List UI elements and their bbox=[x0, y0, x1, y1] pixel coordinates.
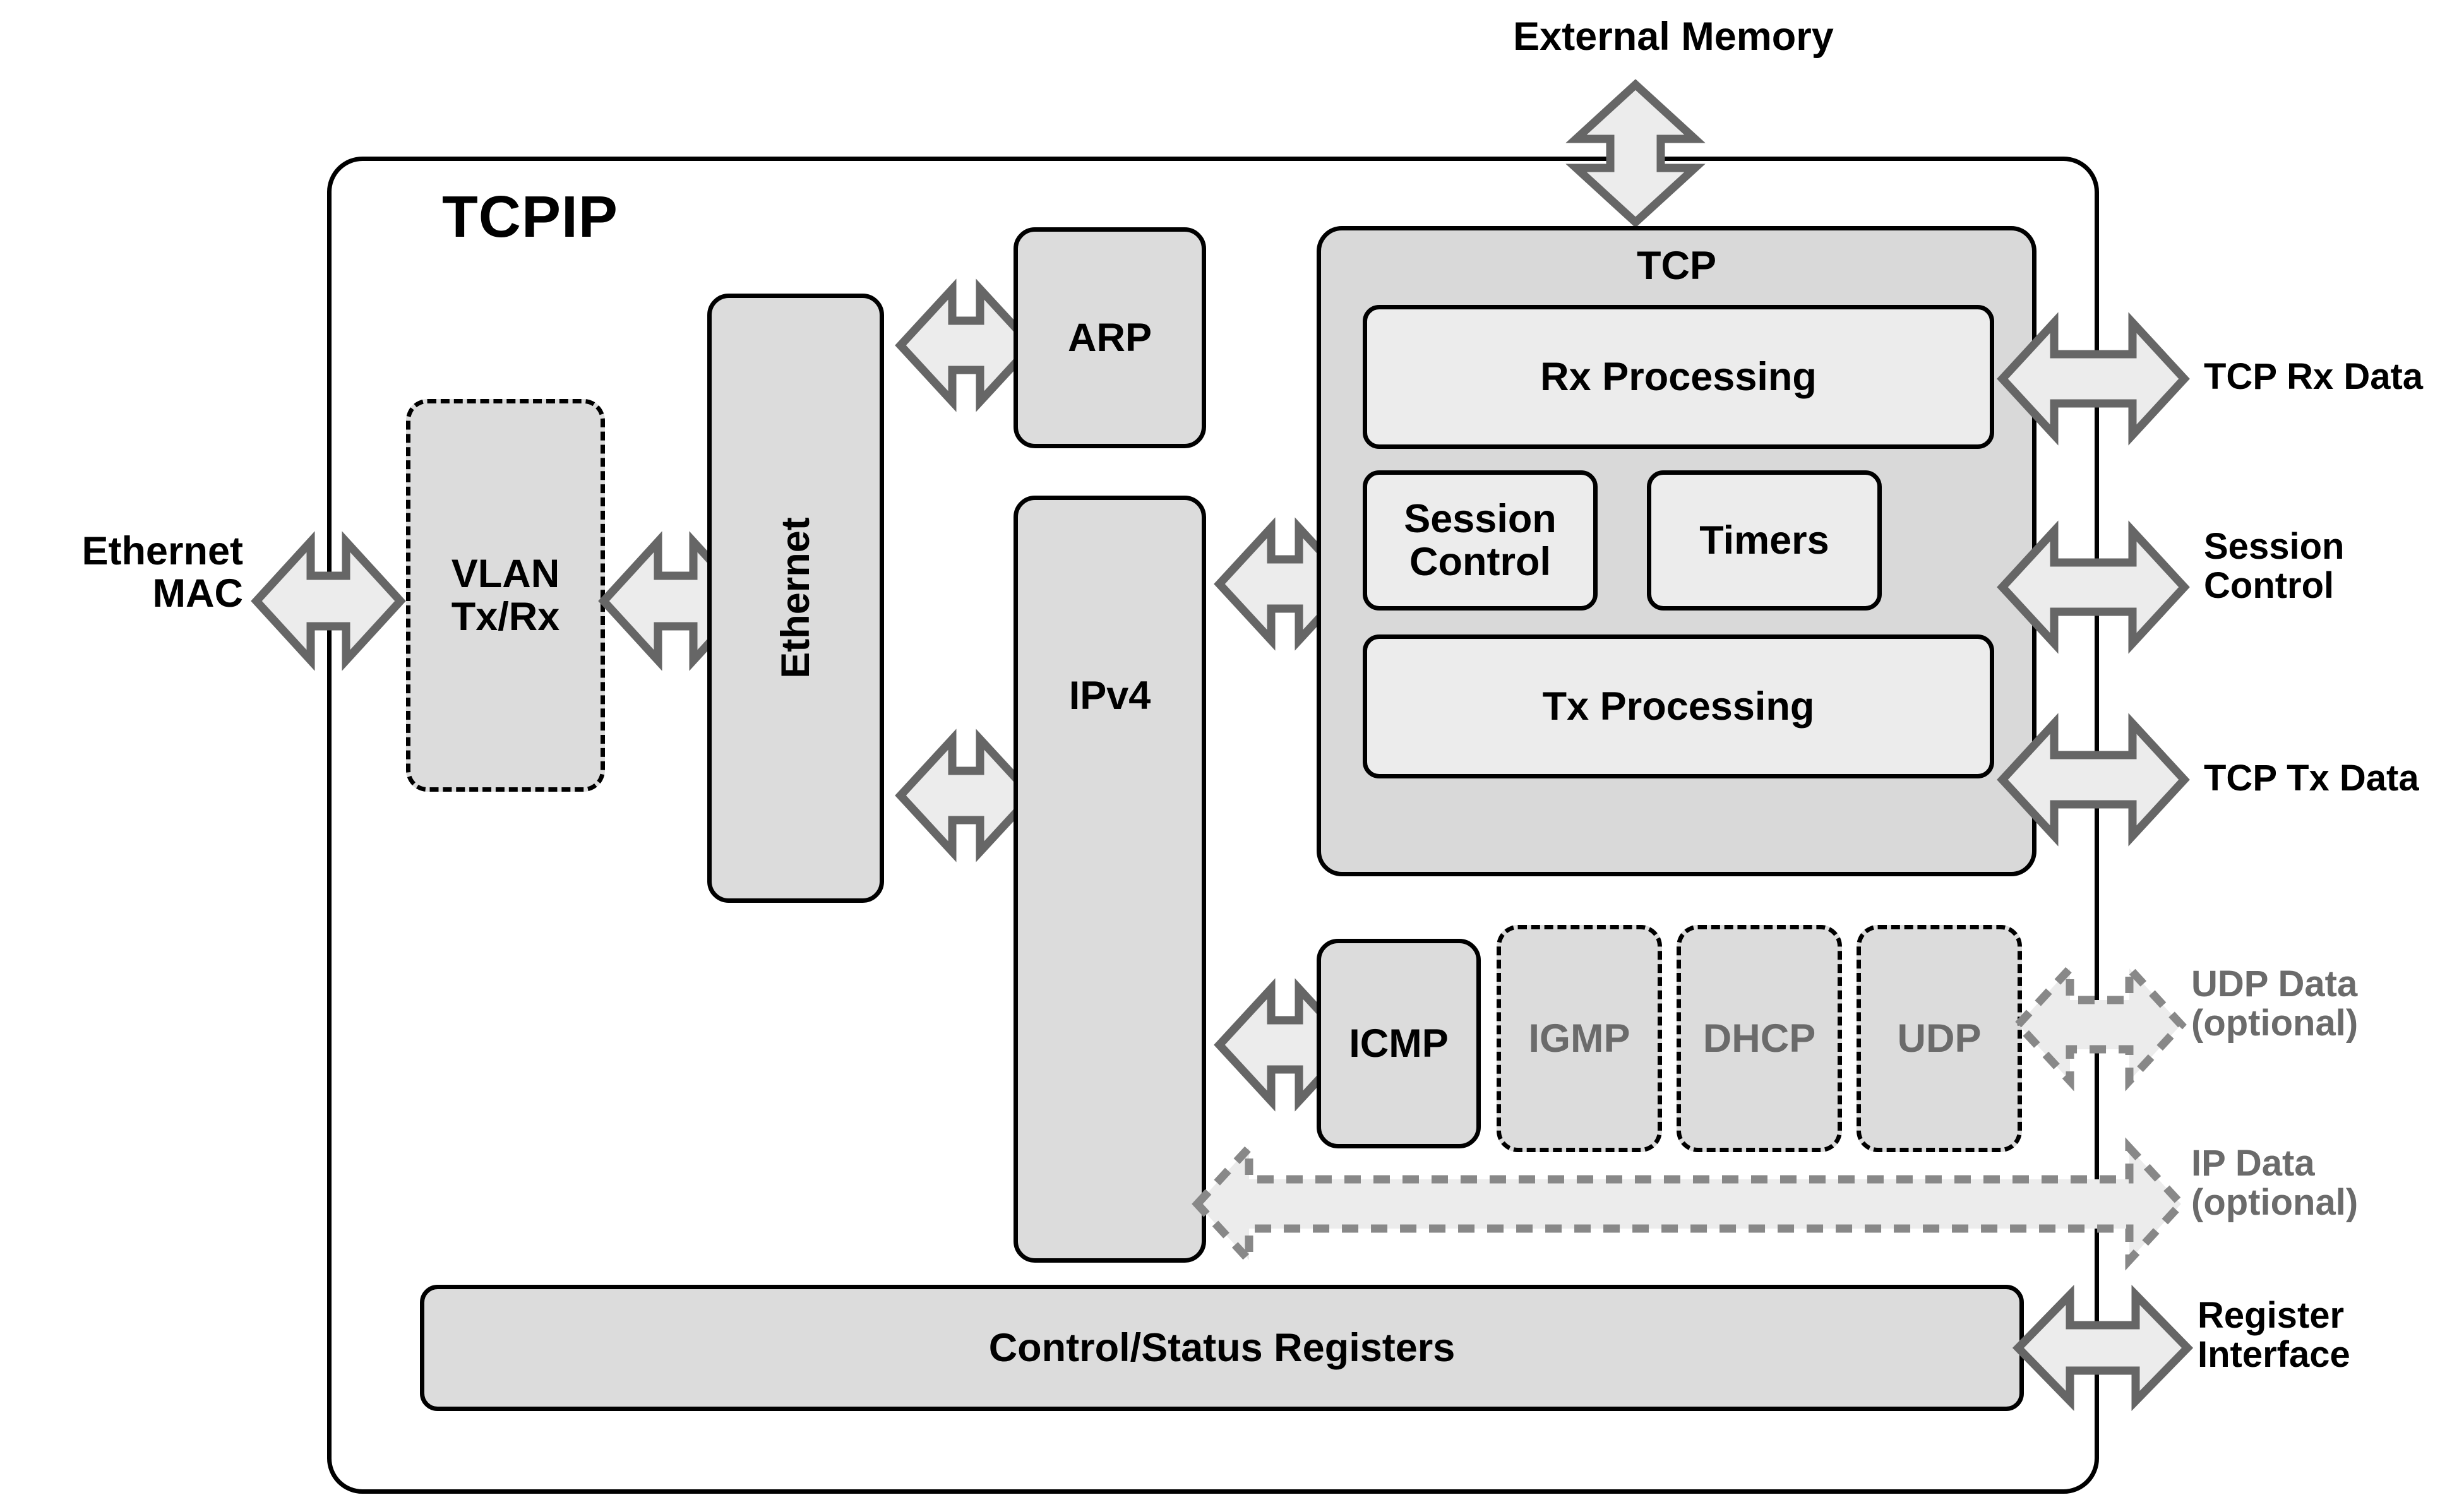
tcp-rx-data-arrow bbox=[1999, 319, 2188, 439]
block-timers[interactable]: Timers bbox=[1647, 470, 1882, 611]
block-icmp[interactable]: ICMP bbox=[1317, 939, 1481, 1148]
block-ethernet[interactable]: Ethernet bbox=[707, 294, 884, 903]
external-memory-label: External Memory bbox=[1446, 16, 1901, 58]
ethernet-mac-label: Ethernet MAC bbox=[25, 530, 243, 616]
block-ethernet-label: Ethernet bbox=[774, 518, 817, 679]
udp-data-label: UDP Data (optional) bbox=[2191, 965, 2463, 1043]
tcp-tx-data-arrow bbox=[1999, 720, 2188, 840]
diagram-canvas: TCPIP External Memory Ethernet MAC VLAN … bbox=[0, 0, 2464, 1495]
block-dhcp[interactable]: DHCP bbox=[1677, 925, 1842, 1152]
register-interface-label: Register Interface bbox=[2198, 1296, 2463, 1374]
block-udp[interactable]: UDP bbox=[1857, 925, 2022, 1152]
block-rx-processing[interactable]: Rx Processing bbox=[1363, 305, 1994, 449]
ethernet-mac-arrow bbox=[253, 538, 404, 664]
block-ipv4[interactable]: IPv4 bbox=[1014, 496, 1206, 1263]
udp-data-arrow bbox=[2014, 965, 2185, 1085]
session-control-arrow bbox=[1999, 527, 2188, 647]
block-arp[interactable]: ARP bbox=[1014, 227, 1206, 448]
ip-data-arrow bbox=[1193, 1144, 2185, 1264]
panel-tcp[interactable]: TCP Rx Processing Session Control Timers… bbox=[1317, 226, 2036, 876]
external-memory-arrow bbox=[1572, 81, 1699, 226]
block-session-control[interactable]: Session Control bbox=[1363, 470, 1598, 611]
block-vlan[interactable]: VLAN Tx/Rx bbox=[406, 399, 605, 792]
tcp-rx-data-label: TCP Rx Data bbox=[2204, 357, 2463, 396]
tcp-tx-data-label: TCP Tx Data bbox=[2204, 759, 2463, 798]
block-control-status-registers[interactable]: Control/Status Registers bbox=[420, 1285, 2024, 1411]
ip-data-label: IP Data (optional) bbox=[2191, 1144, 2463, 1222]
session-control-label: Session Control bbox=[2204, 527, 2463, 605]
block-tx-processing[interactable]: Tx Processing bbox=[1363, 634, 1994, 778]
tcpip-title: TCPIP bbox=[442, 183, 618, 251]
register-interface-arrow bbox=[2014, 1291, 2191, 1405]
block-igmp[interactable]: IGMP bbox=[1497, 925, 1662, 1152]
panel-tcp-title: TCP bbox=[1321, 244, 2032, 287]
block-ipv4-label: IPv4 bbox=[1069, 674, 1151, 717]
